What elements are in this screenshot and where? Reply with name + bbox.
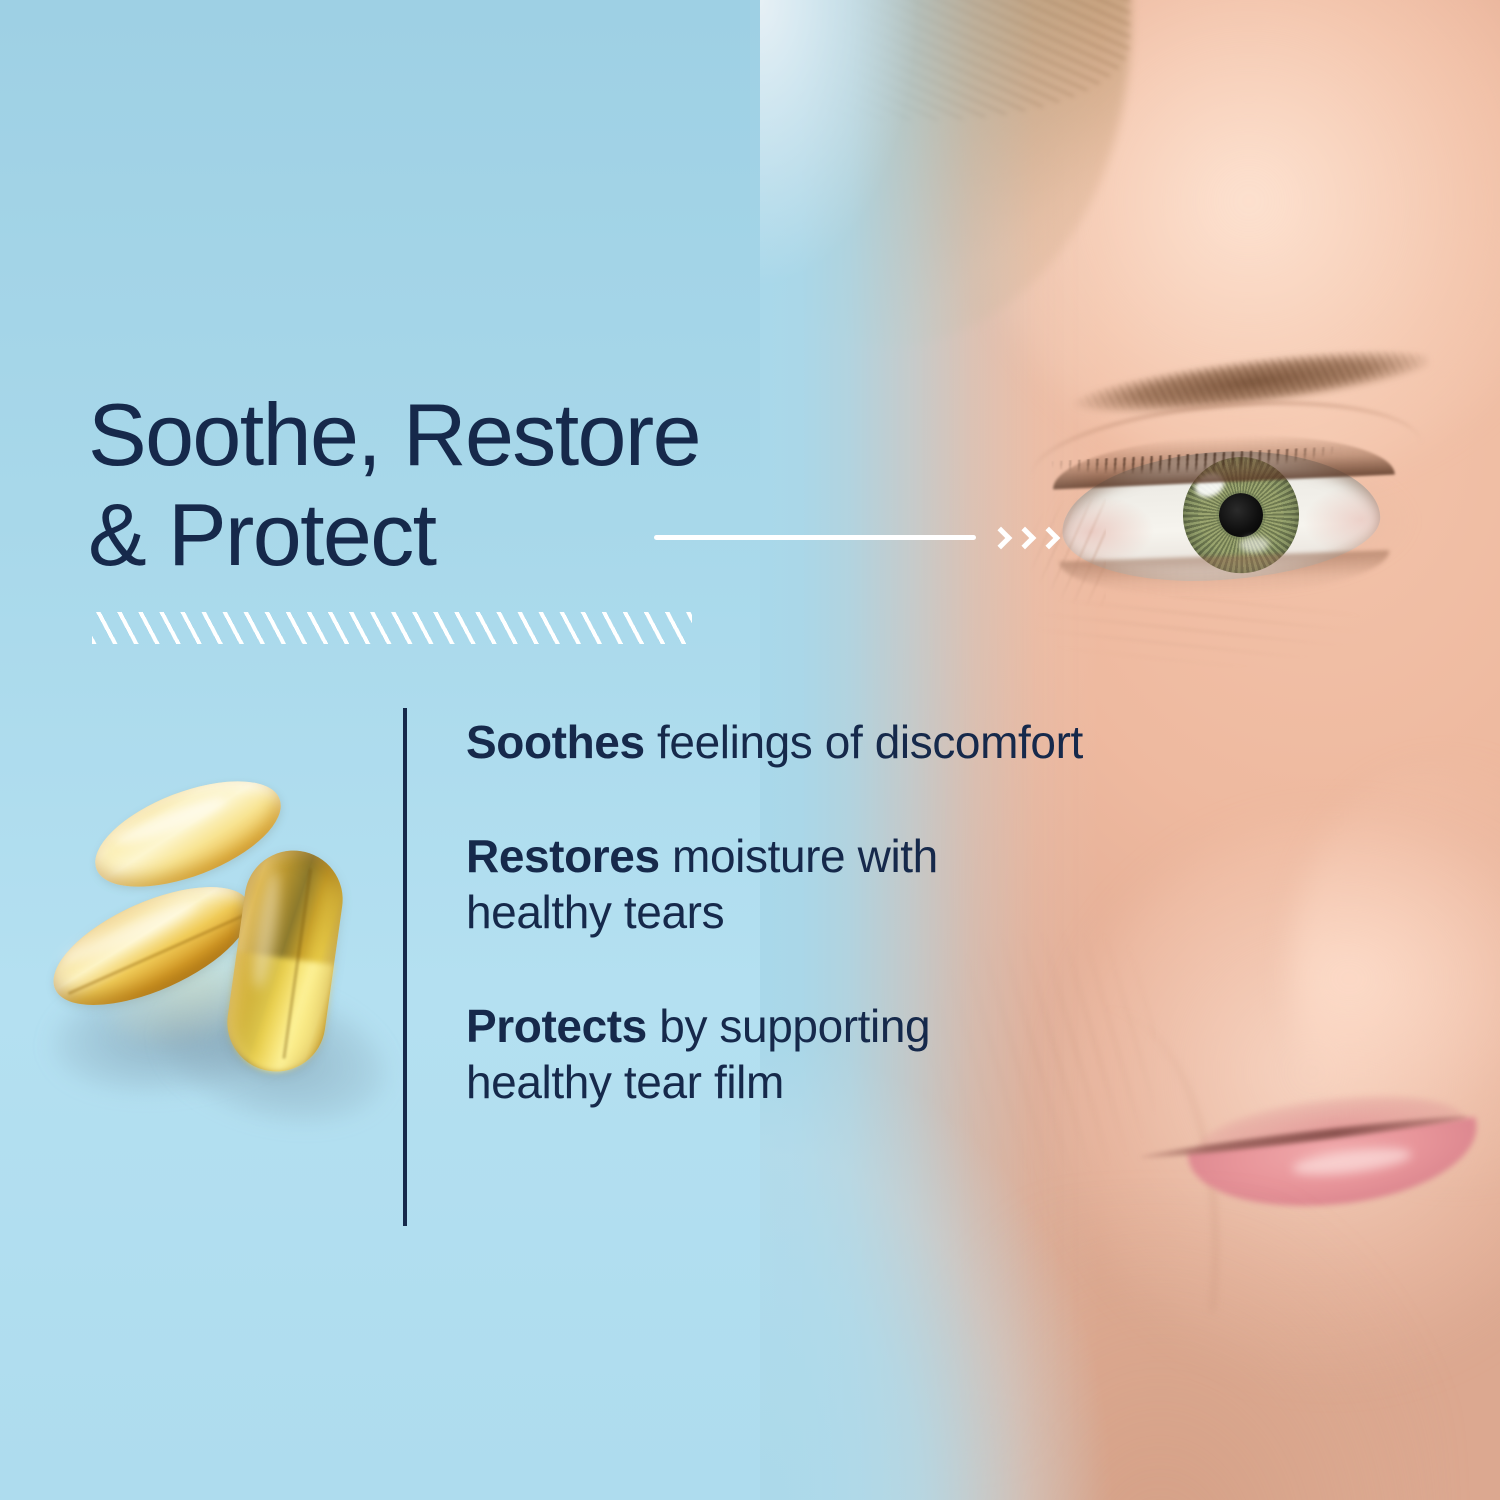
benefit-lead: Soothes (466, 716, 645, 768)
list-item: Protects by supporting healthy tear film (466, 998, 1086, 1110)
photo-top-fade (760, 0, 990, 420)
list-item: Soothes feelings of discomfort (466, 714, 1086, 770)
chevron-right-icon (1040, 527, 1054, 549)
benefit-lead: Protects (466, 1000, 647, 1052)
arrow-accent (654, 524, 1066, 554)
benefits-divider (403, 708, 407, 1226)
list-item: Restores moisture with healthy tears (466, 828, 1086, 940)
capsule-highlight (248, 868, 285, 990)
arrow-line (654, 535, 976, 540)
benefits-list: Soothes feelings of discomfort Restores … (466, 714, 1086, 1111)
softgel-capsules (40, 790, 390, 1140)
product-benefit-banner: Soothe, Restore & Protect Soothes feelin… (0, 0, 1500, 1500)
benefit-lead: Restores (466, 830, 660, 882)
hatch-accent (92, 612, 692, 644)
chevron-right-icon (992, 527, 1006, 549)
page-title: Soothe, Restore & Protect (88, 385, 928, 586)
chevron-right-icon (1016, 527, 1030, 549)
capsule-seam (282, 868, 312, 1059)
benefit-rest: feelings of discomfort (645, 716, 1083, 768)
